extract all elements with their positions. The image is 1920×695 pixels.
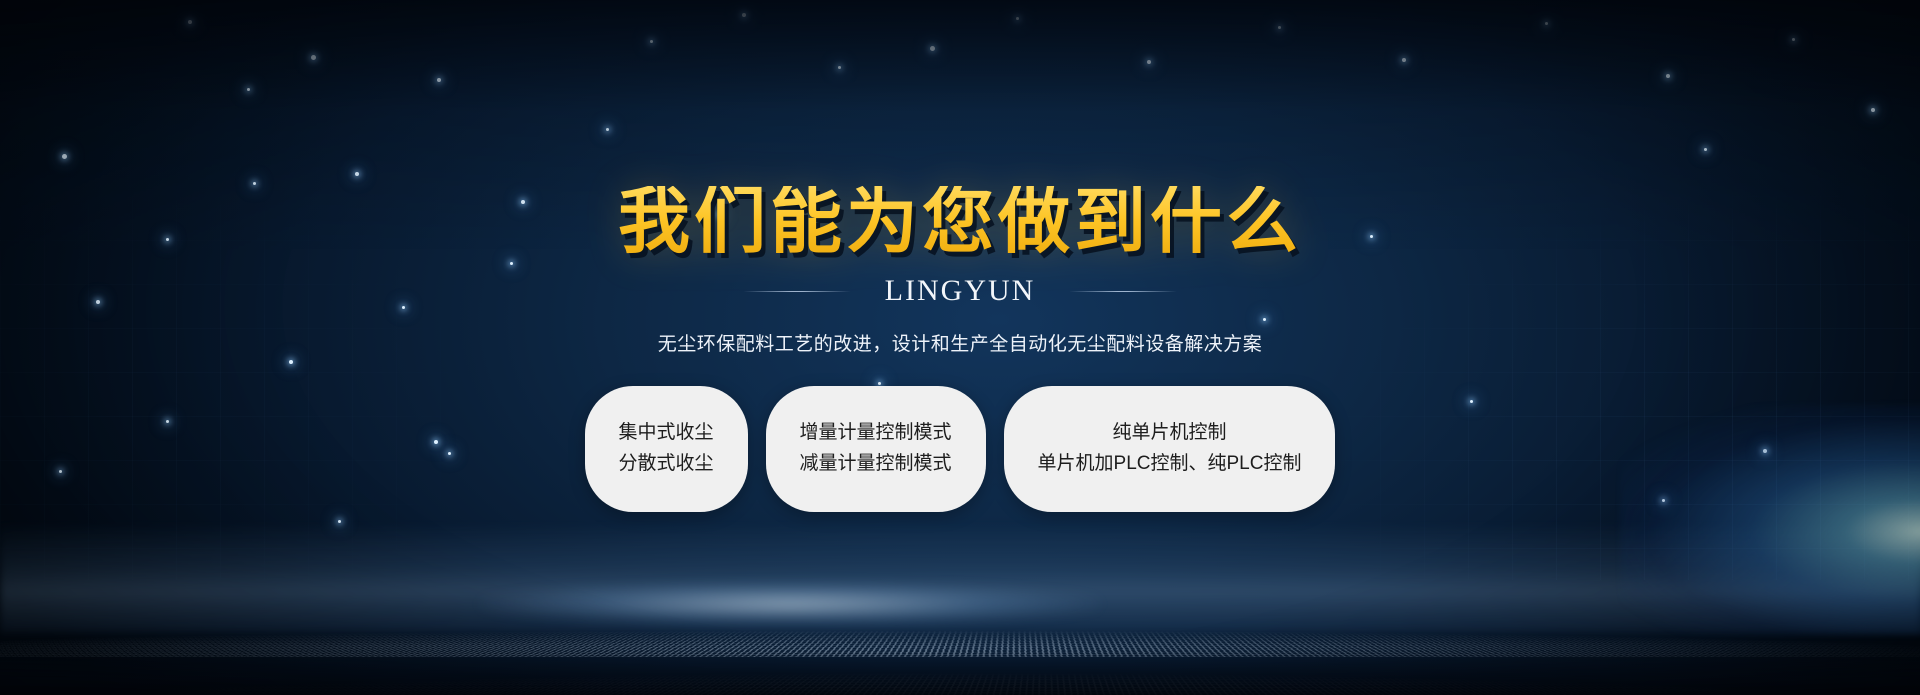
pill-line: 增量计量控制模式 <box>800 423 952 444</box>
hero-banner: 我们能为您做到什么 LINGYUN 无尘环保配料工艺的改进，设计和生产全自动化无… <box>0 0 1920 695</box>
brand-line: LINGYUN <box>743 274 1178 308</box>
pill-line: 减量计量控制模式 <box>800 454 952 475</box>
brand-name: LINGYUN <box>885 274 1036 308</box>
feature-pill-metering-mode[interactable]: 增量计量控制模式 减量计量控制模式 <box>766 386 986 512</box>
pill-line: 分散式收尘 <box>619 454 714 475</box>
page-title: 我们能为您做到什么 <box>618 186 1302 258</box>
brand-rule-left <box>743 291 851 292</box>
pill-line: 集中式收尘 <box>619 423 714 444</box>
banner-content: 我们能为您做到什么 LINGYUN 无尘环保配料工艺的改进，设计和生产全自动化无… <box>0 0 1920 695</box>
pill-line: 纯单片机控制 <box>1113 423 1227 444</box>
banner-subtitle: 无尘环保配料工艺的改进，设计和生产全自动化无尘配料设备解决方案 <box>658 329 1263 356</box>
feature-pill-control-system[interactable]: 纯单片机控制 单片机加PLC控制、纯PLC控制 <box>1004 386 1336 512</box>
feature-pill-group: 集中式收尘 分散式收尘 增量计量控制模式 减量计量控制模式 纯单片机控制 单片机… <box>585 386 1336 512</box>
brand-rule-right <box>1069 291 1177 292</box>
feature-pill-dust-collection[interactable]: 集中式收尘 分散式收尘 <box>585 386 748 512</box>
pill-line: 单片机加PLC控制、纯PLC控制 <box>1038 454 1302 475</box>
